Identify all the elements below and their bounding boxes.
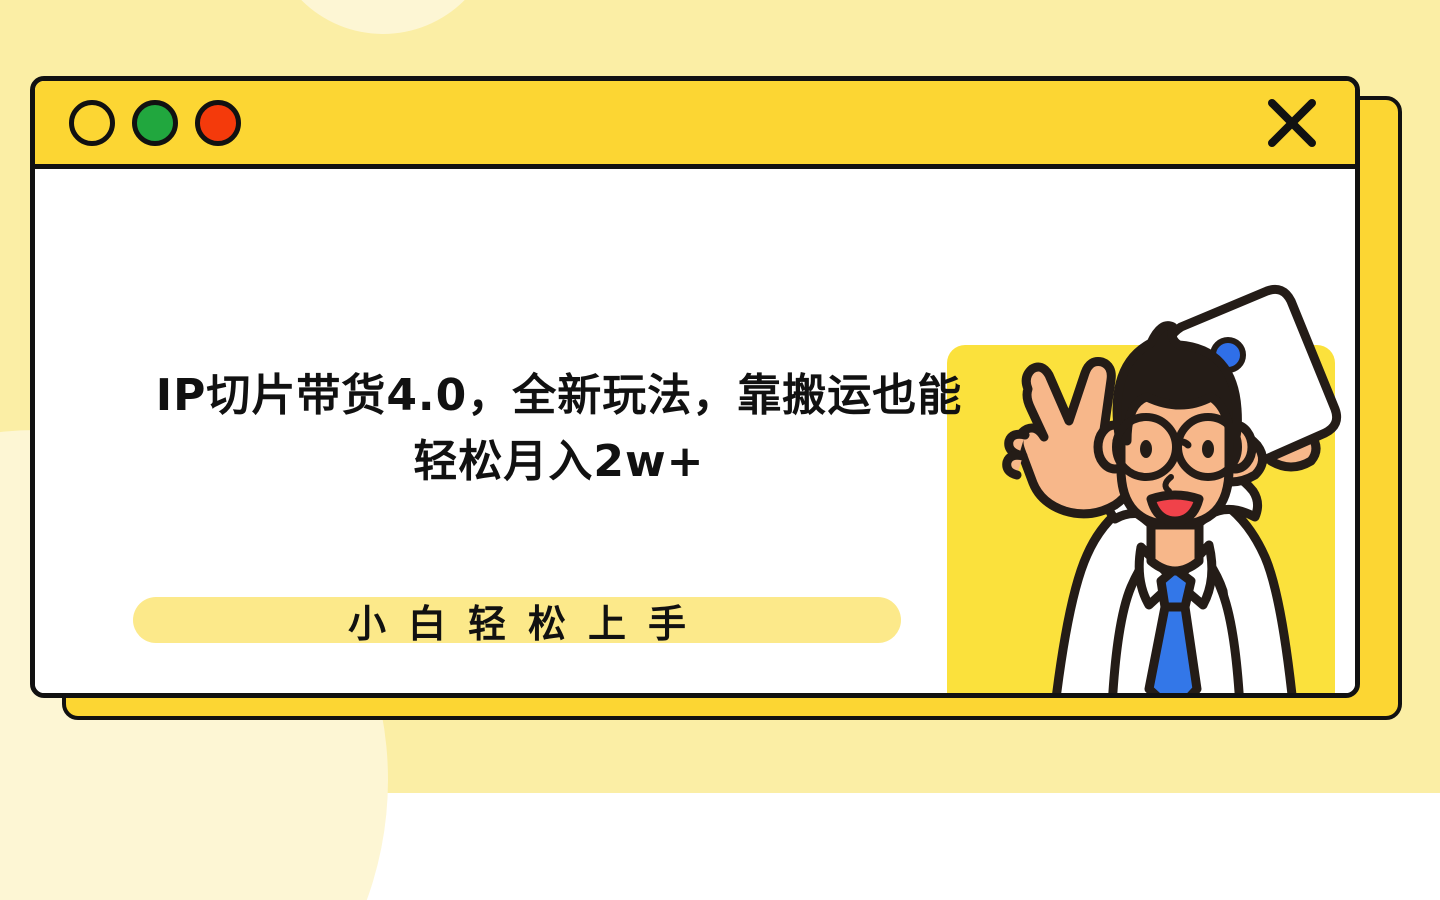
close-icon (1263, 94, 1321, 152)
subtitle-text: 小白轻松上手 (133, 589, 901, 651)
headline-line-1: IP切片带货4.0，全新玩法，靠搬运也能 (79, 363, 1039, 429)
window-content: IP切片带货4.0，全新玩法，靠搬运也能 轻松月入2w+ 小白轻松上手 (35, 169, 1355, 698)
minimize-dot-icon[interactable] (69, 100, 115, 146)
headline-line-2: 轻松月入2w+ (79, 429, 1039, 495)
poster-canvas: IP切片带货4.0，全新玩法，靠搬运也能 轻松月入2w+ 小白轻松上手 (0, 0, 1440, 900)
maximize-dot-icon[interactable] (132, 100, 178, 146)
page-title: IP切片带货4.0，全新玩法，靠搬运也能 轻松月入2w+ (79, 363, 1039, 495)
close-button[interactable] (1263, 94, 1321, 152)
close-dot-icon[interactable] (195, 100, 241, 146)
traffic-light-group (69, 100, 241, 146)
browser-window: IP切片带货4.0，全新玩法，靠搬运也能 轻松月入2w+ 小白轻松上手 (30, 76, 1360, 698)
window-title-bar (35, 81, 1355, 169)
